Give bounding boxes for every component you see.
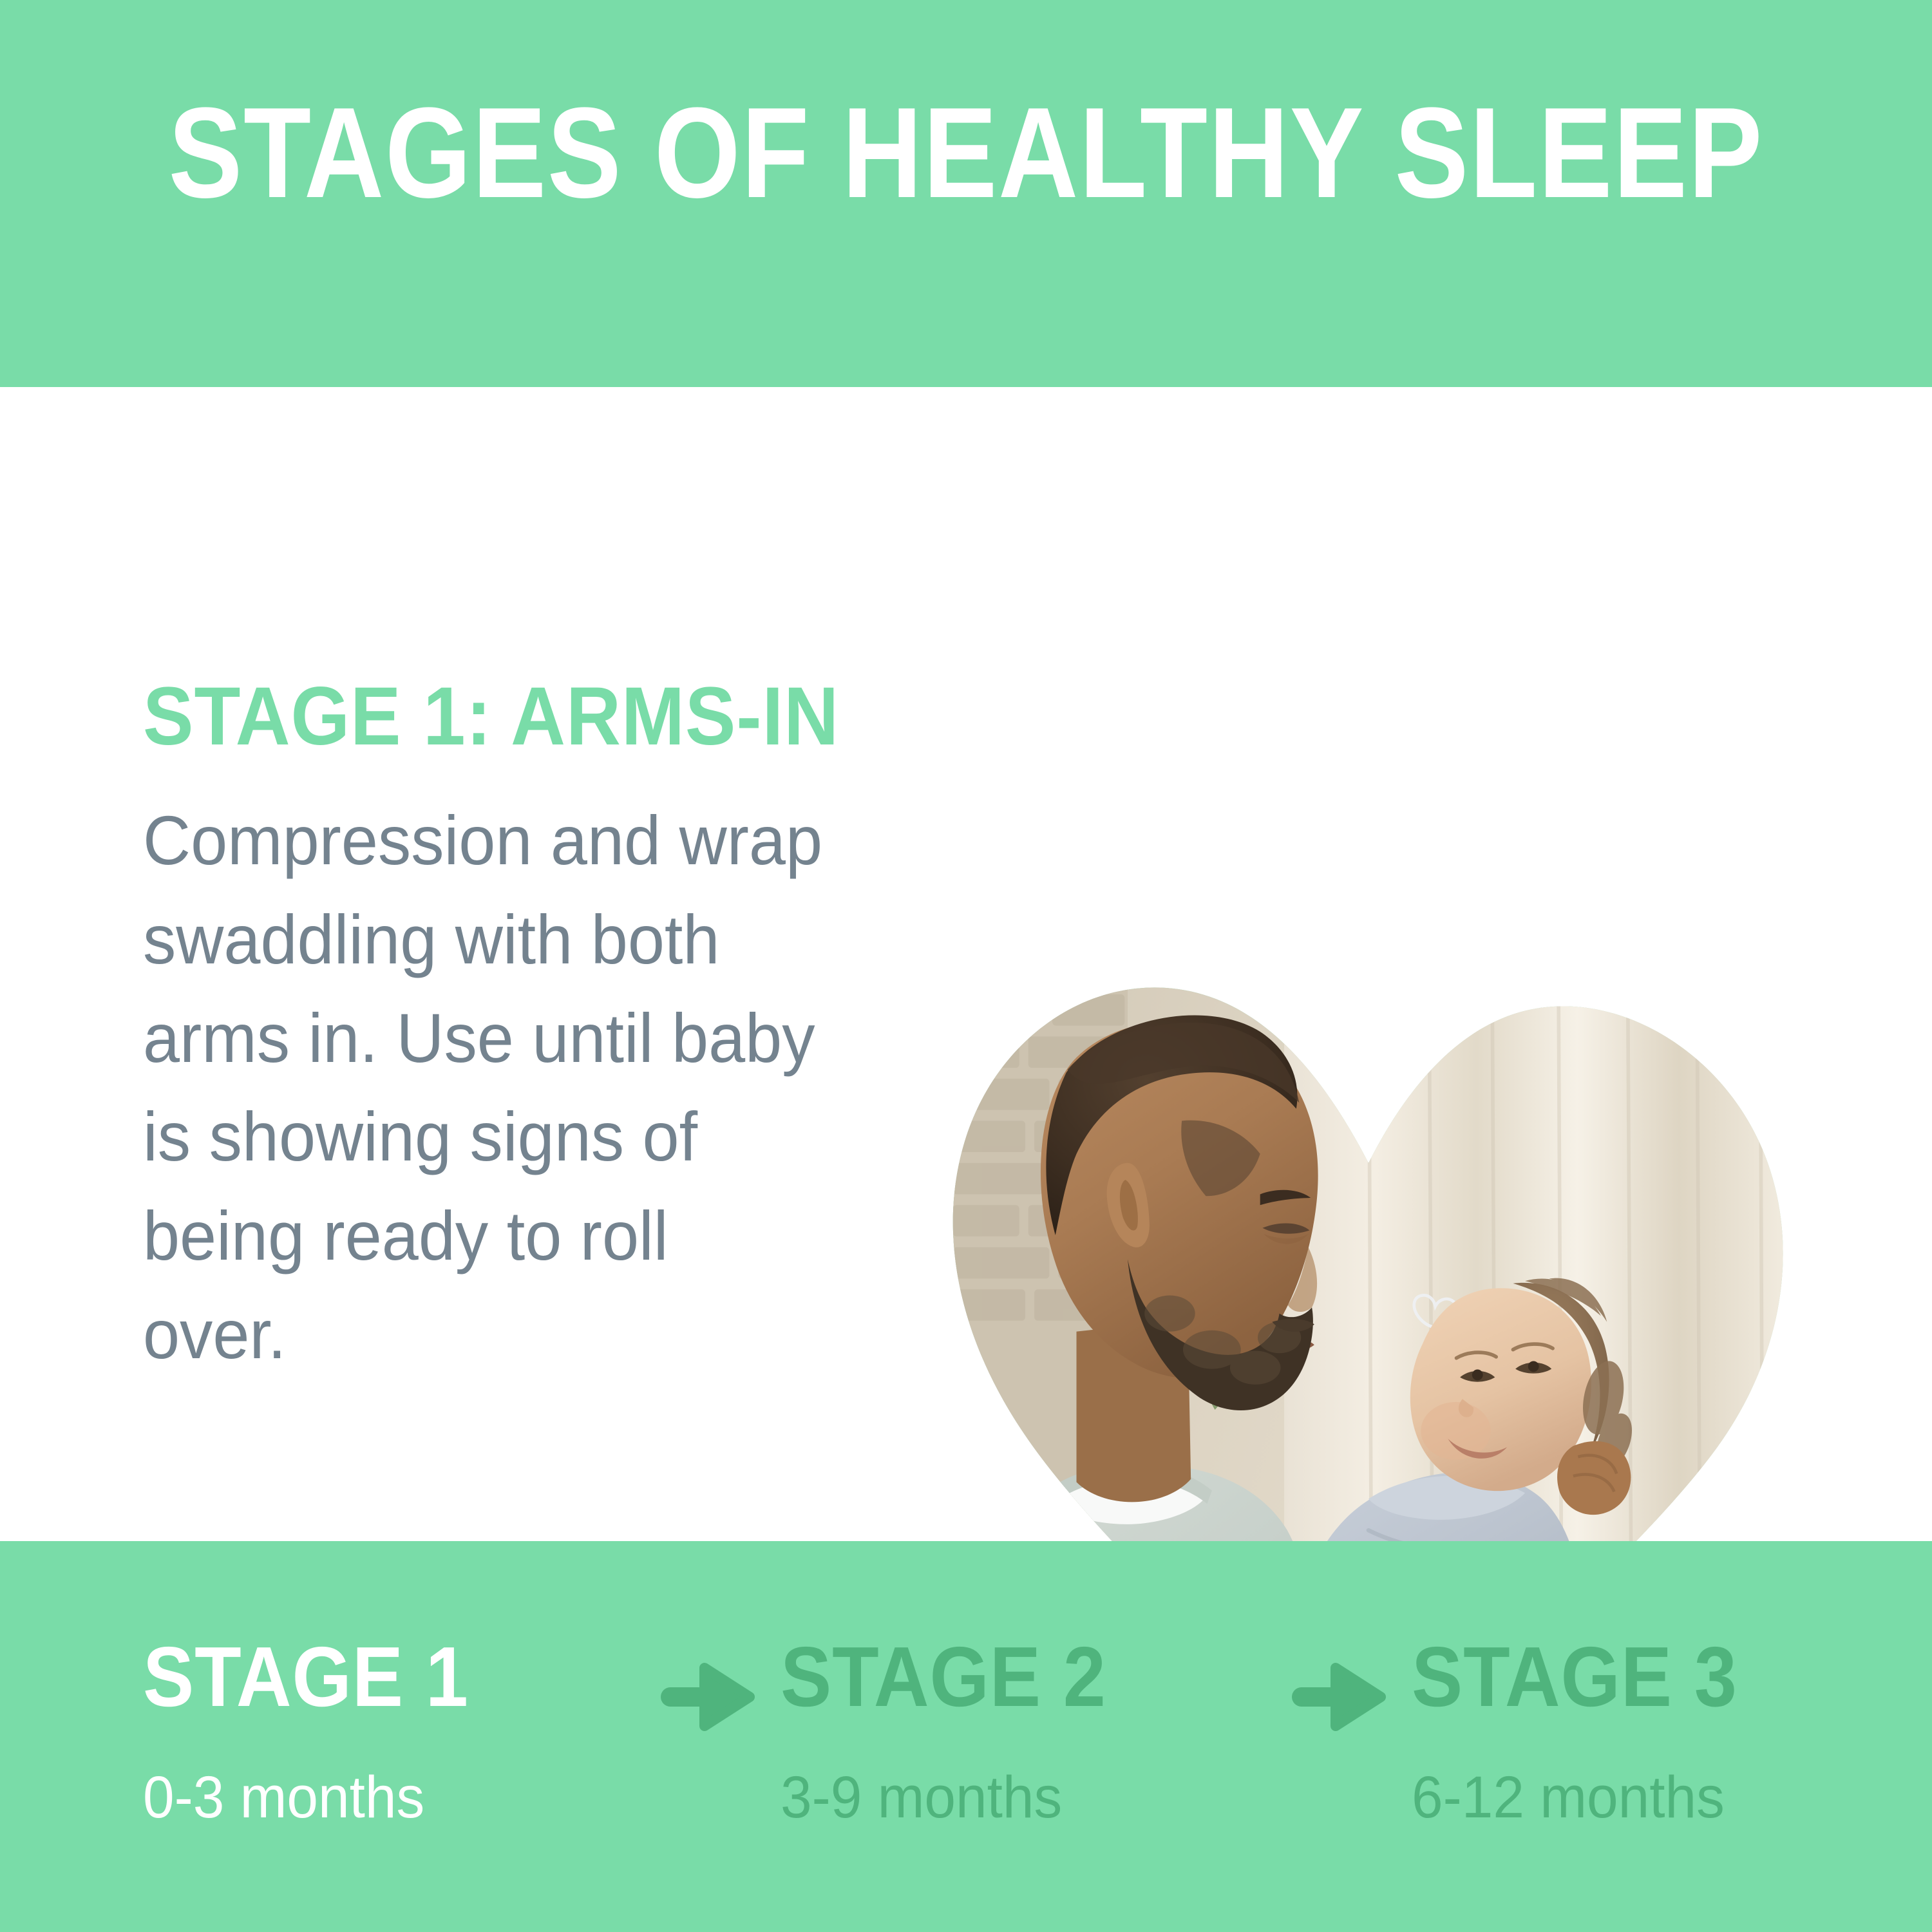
stage-description-column: STAGE 1: ARMS-IN Compression and wrap sw… <box>143 674 903 1384</box>
stage-arrow-1 <box>632 1634 781 1732</box>
arrow-right-icon <box>658 1662 755 1732</box>
stage-step-3[interactable]: STAGE 3 6-12 months <box>1412 1634 1901 1827</box>
stage-step-1[interactable]: STAGE 1 0-3 months <box>143 1634 632 1827</box>
stage-step-3-title: STAGE 3 <box>1412 1634 1738 1719</box>
stage-step-1-months: 0-3 months <box>143 1768 424 1827</box>
stage-step-3-months: 6-12 months <box>1412 1768 1725 1827</box>
stage-step-2-months: 3-9 months <box>781 1768 1062 1827</box>
main-content: STAGE 1: ARMS-IN Compression and wrap sw… <box>0 387 1932 1541</box>
page-title: STAGES OF HEALTHY SLEEP <box>169 89 1764 218</box>
stage-step-2-title: STAGE 2 <box>781 1634 1106 1719</box>
arrow-right-icon <box>1289 1662 1386 1732</box>
stage-step-1-title: STAGE 1 <box>143 1634 469 1719</box>
stage-track: STAGE 1 0-3 months STAGE 2 3-9 months ST… <box>143 1634 1901 1827</box>
header-band: STAGES OF HEALTHY SLEEP <box>0 0 1932 387</box>
stage-step-2[interactable]: STAGE 2 3-9 months <box>781 1634 1264 1827</box>
stage-body-text: Compression and wrap swaddling with both… <box>143 791 828 1383</box>
stage-arrow-2 <box>1264 1634 1412 1732</box>
stage-progress-bar: STAGE 1 0-3 months STAGE 2 3-9 months ST… <box>0 1541 1932 1932</box>
stage-heading: STAGE 1: ARMS-IN <box>143 674 842 760</box>
